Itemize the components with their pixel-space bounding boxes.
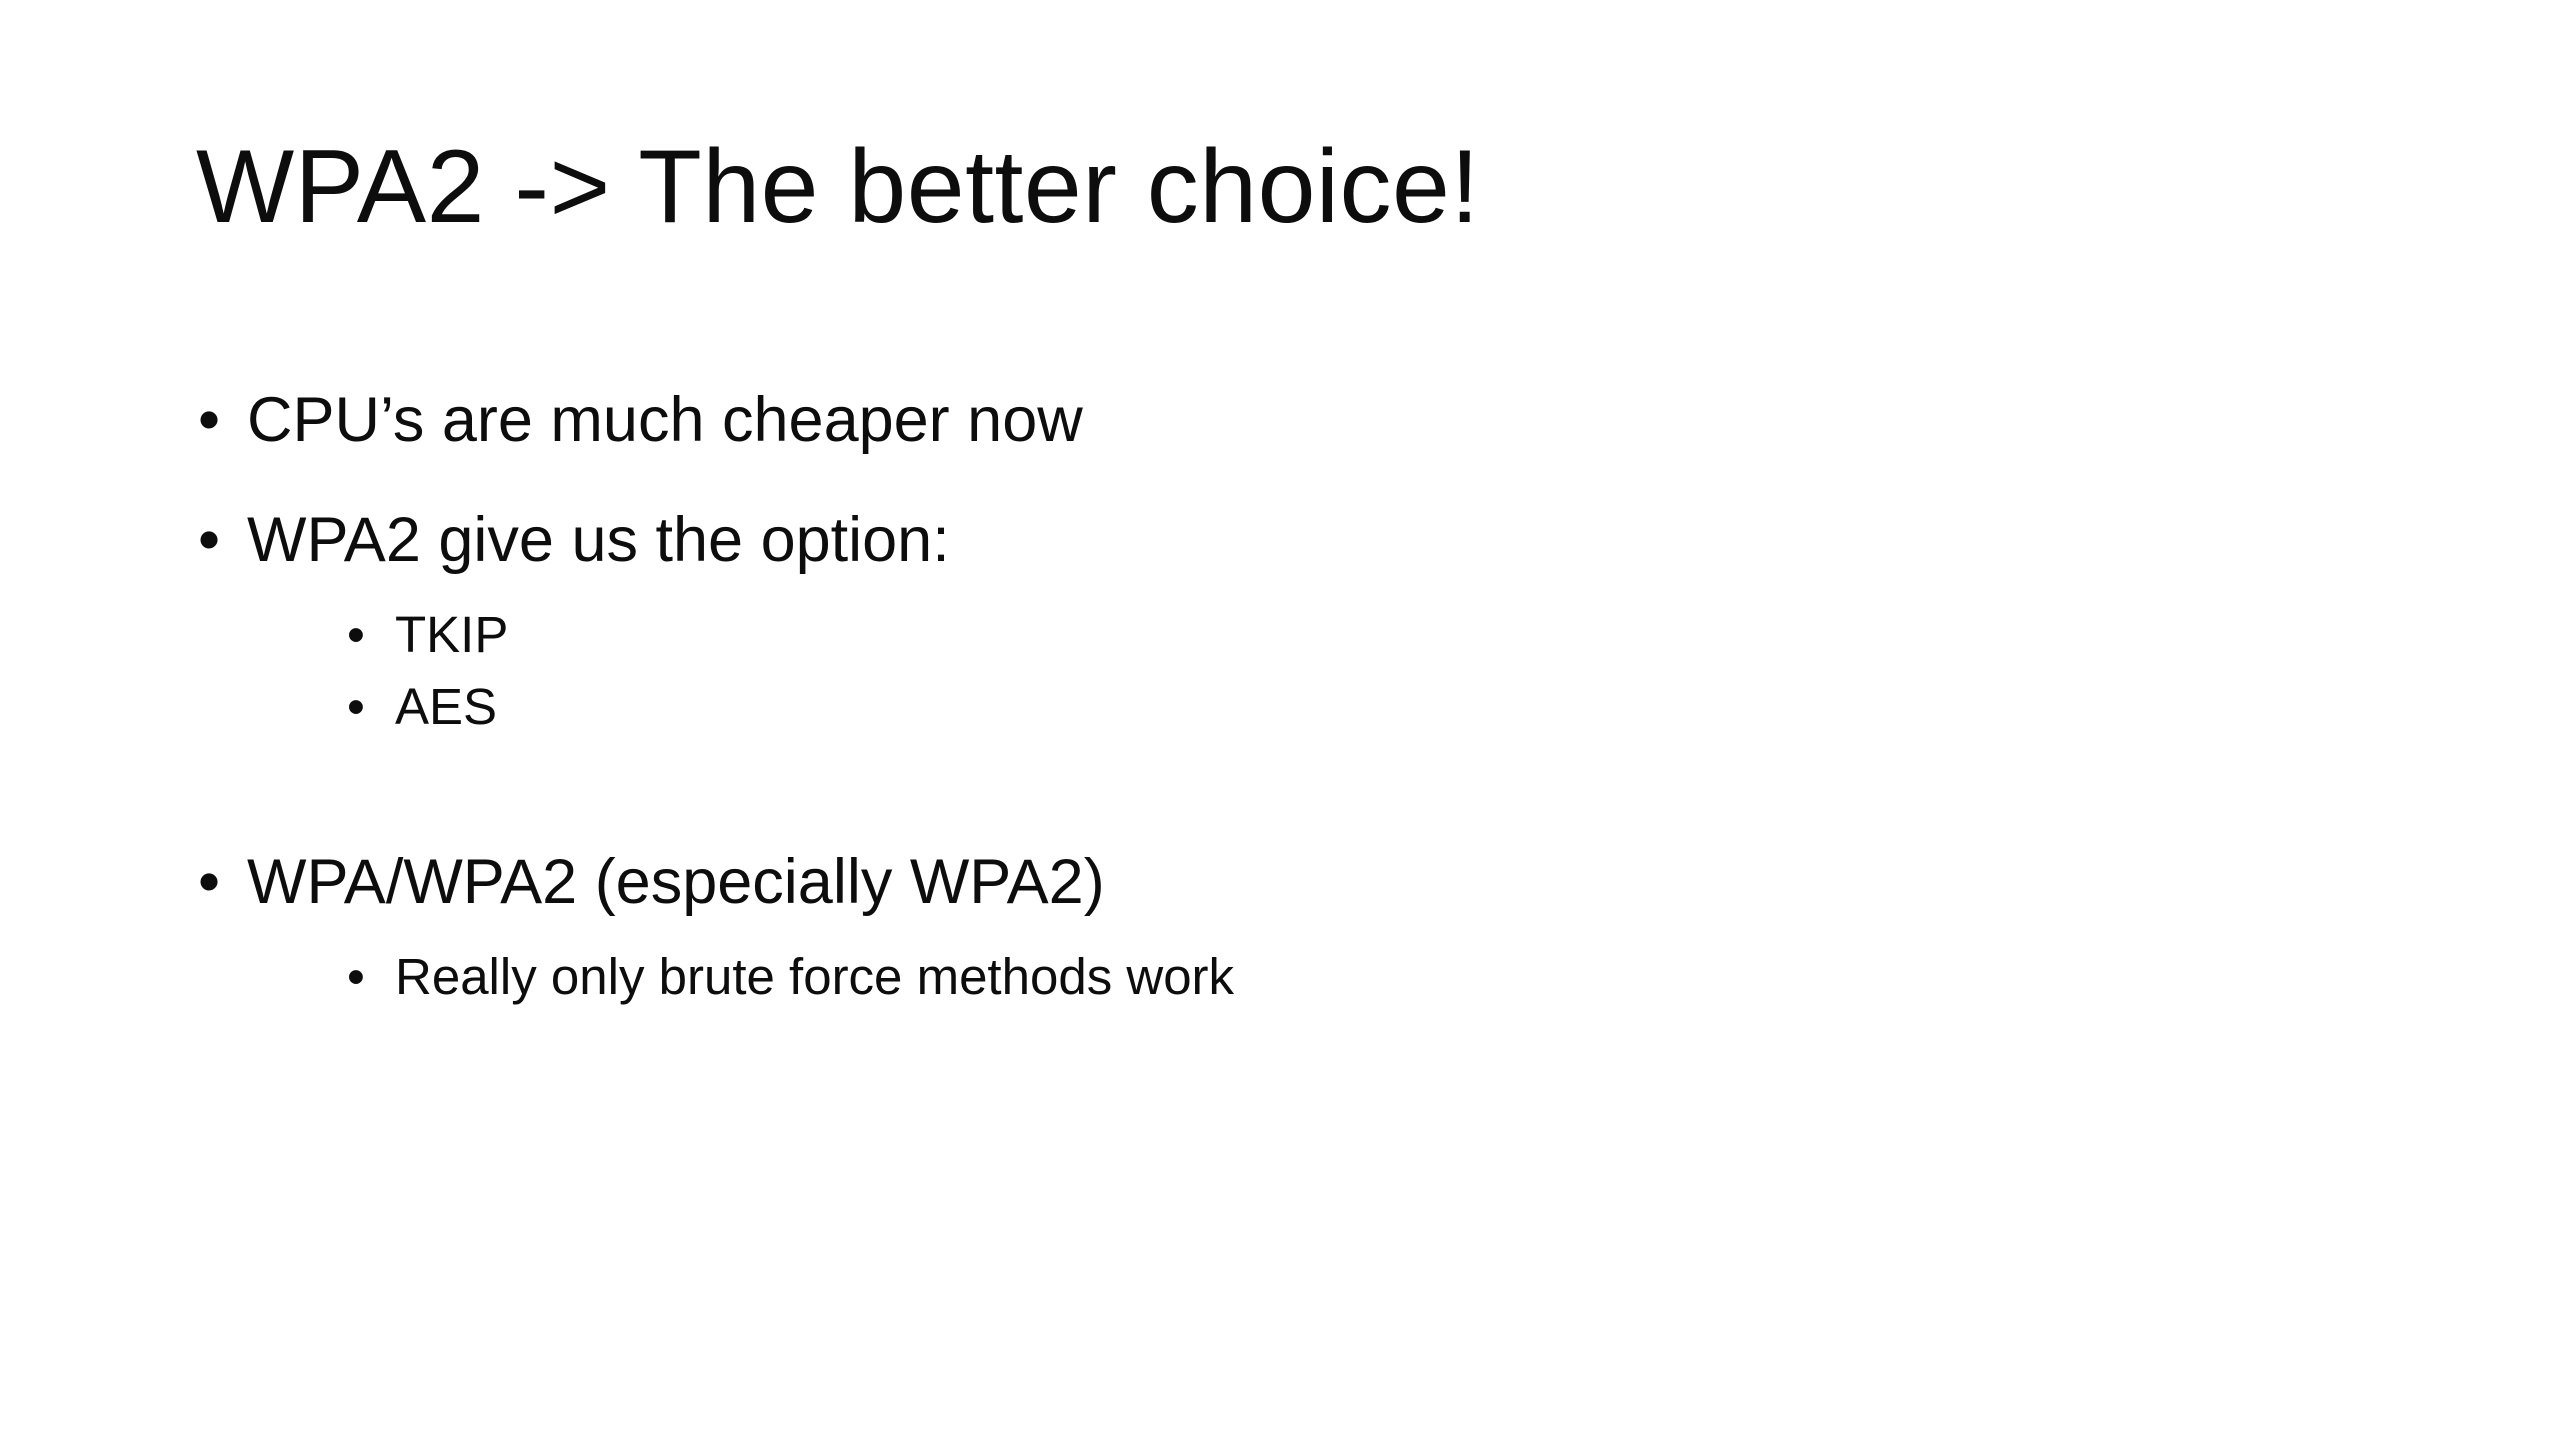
bullet-list-level-1: • CPU’s are much cheaper now • WPA2 give…: [196, 378, 2396, 1012]
list-item-label: TKIP: [395, 606, 508, 663]
bullet-list-level-2: • Really only brute force methods work: [247, 942, 2396, 1012]
bullet-point-icon: •: [198, 840, 249, 924]
list-item[interactable]: • TKIP: [247, 600, 2396, 670]
content-placeholder[interactable]: • CPU’s are much cheaper now • WPA2 give…: [196, 378, 2396, 1014]
bullet-point-icon: •: [347, 600, 395, 670]
bullet-point-icon: •: [198, 378, 249, 462]
bullet-list-level-2: • TKIP • AES: [247, 600, 2396, 742]
slide-canvas: WPA2 -> The better choice! • CPU’s are m…: [0, 0, 2560, 1440]
page-title: WPA2 -> The better choice!: [196, 128, 2376, 246]
title-placeholder[interactable]: WPA2 -> The better choice!: [196, 128, 2376, 288]
list-item[interactable]: • WPA2 give us the option: • TKIP • AES: [196, 498, 2396, 742]
blank-paragraph-spacer: [196, 744, 2396, 840]
list-item[interactable]: • AES: [247, 672, 2396, 742]
bullet-point-icon: •: [347, 942, 395, 1012]
list-item-label: WPA/WPA2 (especially WPA2): [247, 847, 1105, 917]
bullet-point-icon: •: [347, 672, 395, 742]
list-item-label: AES: [395, 678, 497, 735]
list-item-label: WPA2 give us the option:: [247, 505, 950, 575]
list-item-label: CPU’s are much cheaper now: [247, 385, 1083, 455]
list-item[interactable]: • CPU’s are much cheaper now: [196, 378, 2396, 462]
list-item-label: Really only brute force methods work: [395, 948, 1234, 1005]
list-item[interactable]: • Really only brute force methods work: [247, 942, 2396, 1012]
bullet-point-icon: •: [198, 498, 249, 582]
list-item[interactable]: • WPA/WPA2 (especially WPA2) • Really on…: [196, 840, 2396, 1012]
